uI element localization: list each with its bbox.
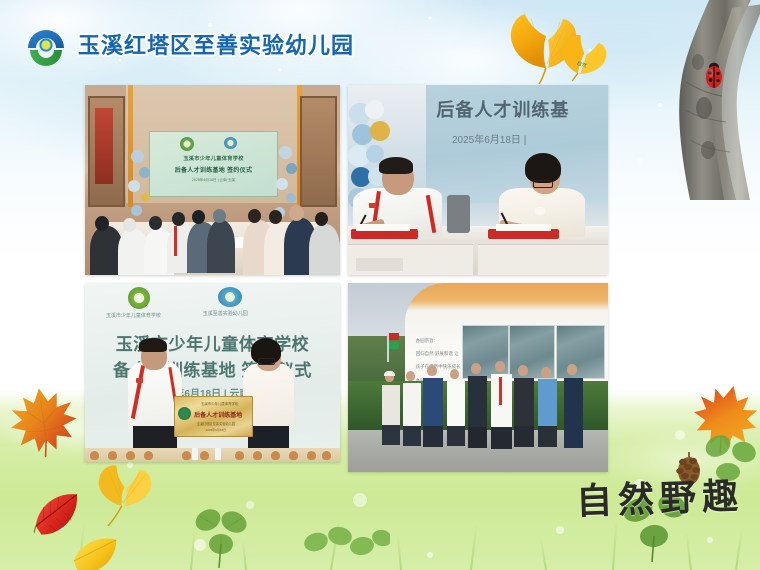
plaque-main-text: 后备人才训练基地	[187, 410, 248, 419]
maple-leaf-icon	[3, 380, 85, 468]
screen-line-2: 后备人才训练基地 签约仪式	[150, 165, 278, 174]
plaque-sub-text: 玉溪红塔区至善实验幼儿园	[183, 421, 249, 426]
plaque-top-text: 玉溪市少年儿童体育学校	[191, 401, 249, 406]
ladybug-icon	[702, 60, 726, 95]
ginkgo-leaf-icon	[87, 458, 158, 537]
slide-canvas: 自然 玉溪市少年儿童体育学校 后备人才训练基地 签约仪式 2025年6月18日 …	[0, 0, 760, 570]
clover-icon	[300, 520, 390, 570]
wall-text-line-2: 回归自然 舒展和谐 让	[416, 351, 459, 358]
plaque-backdrop-line1: 玉溪市少年儿童体育学校	[85, 330, 340, 355]
photo-conference-room[interactable]: 玉溪市少年儿童体育学校 后备人才训练基地 签约仪式 2025年6月18日 | 云…	[85, 85, 340, 275]
conference-screen: 玉溪市少年儿童体育学校 后备人才训练基地 签约仪式 2025年6月18日 | 云…	[149, 131, 279, 198]
signing-banner-text: 后备人才训练基	[436, 96, 569, 122]
gold-plaque: 玉溪市少年儿童体育学校 后备人才训练基地 玉溪红塔区至善实验幼儿园 2025年6…	[174, 396, 253, 437]
page-header: 玉溪红塔区至善实验幼儿园	[24, 22, 354, 66]
clover-icon	[186, 506, 256, 570]
backdrop-logo-left	[128, 287, 150, 309]
backdrop-badge-left: 玉溪市少年儿童体育学校	[105, 312, 161, 319]
screen-line-1: 玉溪市少年儿童体育学校	[150, 155, 278, 162]
photo-plaque-handover[interactable]: 玉溪市少年儿童体育学校 玉溪至善实验幼儿园 玉溪市少年儿童体育学校 备人才训练基…	[85, 283, 340, 462]
screen-line-3: 2025年6月18日 | 云南·玉溪	[150, 178, 278, 183]
backdrop-logo-right	[218, 287, 242, 307]
page-title: 玉溪红塔区至善实验幼儿园	[78, 28, 354, 60]
plaque-backdrop-line2: 备人才训练基地 签约仪式	[85, 356, 340, 381]
tree-branch-icon	[586, 0, 760, 200]
photo-signing-closeup[interactable]: 后备人才训练基 2025年6月18日 |	[348, 85, 608, 275]
calligraphy-slogan: 自然野趣	[575, 467, 745, 525]
kindergarten-logo	[24, 22, 68, 66]
photo-group-outdoor[interactable]: 办园宗旨： 回归自然 舒展和谐 让 孩子在自然中快乐成长 办园理念	[348, 283, 608, 472]
signing-date-text: 2025年6月18日 |	[452, 131, 526, 146]
plaque-date-text: 2025年6月18日	[183, 428, 249, 432]
backdrop-badge-right: 玉溪至善实验幼儿园	[197, 310, 253, 317]
wall-text-line-1: 办园宗旨：	[416, 338, 439, 345]
